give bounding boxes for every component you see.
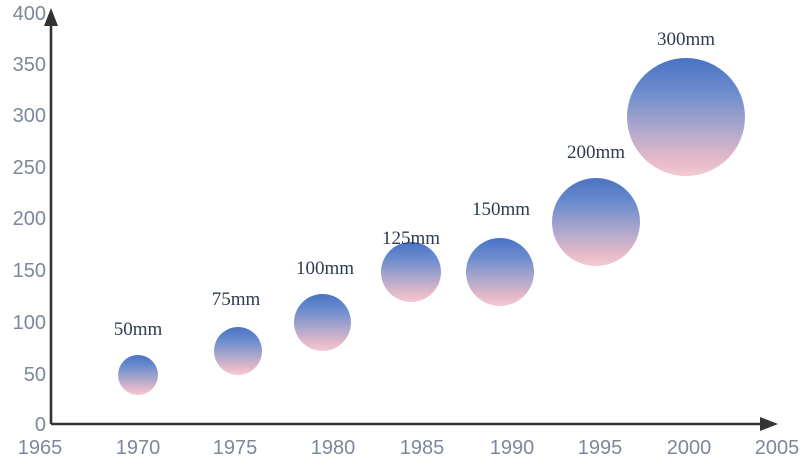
- data-point-label: 100mm: [296, 259, 354, 278]
- data-point-label: 150mm: [472, 200, 530, 219]
- y-tick-label: 150: [0, 261, 46, 281]
- x-tick-label: 2000: [654, 438, 724, 458]
- y-tick-label: 400: [0, 4, 46, 24]
- x-tick-label: 1990: [477, 438, 547, 458]
- data-point-bubble[interactable]: [214, 327, 262, 375]
- data-point-label: 200mm: [567, 143, 625, 162]
- data-point-label: 50mm: [114, 320, 163, 339]
- data-point-label: 125mm: [382, 229, 440, 248]
- plot-area: 400 350 300 250 200 150 100 50 0 1965 19…: [0, 0, 800, 463]
- x-tick-label: 1980: [298, 438, 368, 458]
- y-tick-label: 250: [0, 158, 46, 178]
- data-point-bubble[interactable]: [552, 178, 640, 266]
- x-tick-label: 1975: [200, 438, 270, 458]
- y-axis-arrow: [44, 8, 58, 26]
- data-point-bubble[interactable]: [381, 242, 441, 302]
- y-tick-label: 0: [0, 415, 46, 435]
- x-tick-label: 1965: [5, 438, 75, 458]
- data-point-bubble[interactable]: [118, 355, 158, 395]
- data-point-label: 300mm: [657, 30, 715, 49]
- data-point-bubble[interactable]: [466, 238, 534, 306]
- data-point-bubble[interactable]: [627, 58, 745, 176]
- x-tick-label: 1970: [103, 438, 173, 458]
- y-tick-label: 300: [0, 106, 46, 126]
- data-point-label: 75mm: [212, 290, 261, 309]
- x-tick-label: 1985: [387, 438, 457, 458]
- x-tick-label: 2005: [742, 438, 800, 458]
- data-point-bubble[interactable]: [294, 294, 351, 351]
- y-tick-label: 100: [0, 313, 46, 333]
- y-tick-label: 200: [0, 209, 46, 229]
- bubble-chart: 400 350 300 250 200 150 100 50 0 1965 19…: [0, 0, 800, 463]
- x-axis-arrow: [760, 417, 778, 431]
- x-tick-label: 1995: [565, 438, 635, 458]
- y-tick-label: 50: [0, 365, 46, 385]
- y-tick-label: 350: [0, 55, 46, 75]
